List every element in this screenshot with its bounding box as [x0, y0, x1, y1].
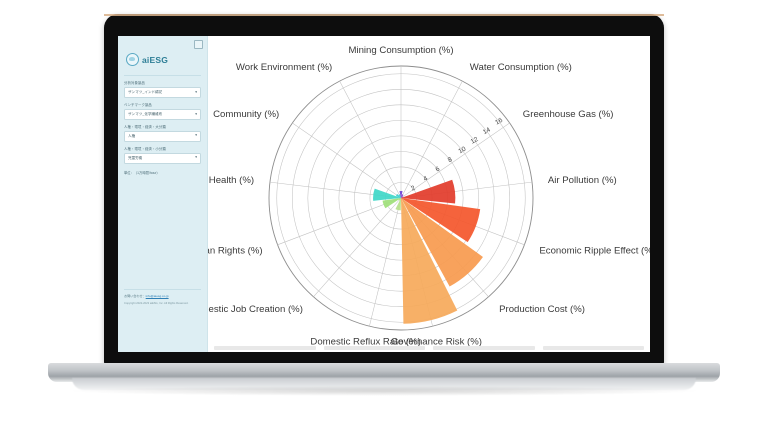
radial-tick-label: 14 — [482, 126, 492, 136]
category-label: Greenhouse Gas (%) — [523, 109, 614, 120]
content-footer-bars — [208, 346, 650, 350]
contact-email-link[interactable]: info@aiesg.co.jp — [146, 294, 169, 298]
select-value: 児童労働 — [128, 156, 142, 161]
radial-tick-label: 12 — [470, 136, 480, 146]
field-major-category: 人権・環境・経済・大分類 人権 ▾ — [118, 120, 207, 142]
logo-mark-icon — [126, 53, 139, 66]
chart-radial-ticks: 246810121416 — [410, 117, 504, 193]
chart-petals — [373, 180, 483, 324]
category-label: Safety and Health (%) — [208, 175, 254, 186]
unit-note: 単位：（1万時間/hour） — [118, 164, 207, 175]
category-label: Work Environment (%) — [236, 62, 332, 73]
polar-rose-chart: 246810121416 Mining Consumption (%)Water… — [208, 36, 650, 352]
radial-tick-label: 10 — [457, 145, 467, 155]
sidebar-footer: お問い合わせ：info@aiesg.co.jp Copyright 2022-2… — [124, 289, 201, 306]
field-target-product: 分析対象製品 ザンマツ_インド綿花 ▾ — [118, 76, 207, 98]
close-icon[interactable] — [194, 40, 203, 49]
chevron-down-icon: ▾ — [195, 156, 197, 160]
logo-text: aiESG — [142, 55, 168, 65]
footer-bar — [214, 346, 316, 350]
select-minor-category[interactable]: 児童労働 ▾ — [124, 153, 201, 164]
select-target-product[interactable]: ザンマツ_インド綿花 ▾ — [124, 87, 201, 98]
footer-bar — [543, 346, 645, 350]
application-window: aiESG 分析対象製品 ザンマツ_インド綿花 ▾ ベンチマーク製品 ザンマツ_… — [118, 36, 650, 352]
contact-label: お問い合わせ： — [124, 294, 146, 298]
lid-top-accent — [104, 14, 664, 16]
chevron-down-icon: ▾ — [195, 91, 197, 95]
category-label: Economic Ripple Effect (%) — [539, 246, 650, 257]
category-label: Community (%) — [213, 109, 279, 120]
category-label: Human Rights (%) — [208, 246, 263, 257]
rose-chart-svg: 246810121416 Mining Consumption (%)Water… — [208, 36, 650, 352]
laptop-shadow — [64, 386, 704, 396]
field-minor-category: 人権・環境・経済・小分類 児童労働 ▾ — [118, 142, 207, 164]
category-label: Mining Consumption (%) — [348, 45, 453, 56]
select-value: ザンマツ_インド綿花 — [128, 90, 162, 95]
category-label: Air Pollution (%) — [548, 175, 617, 186]
field-label: 人権・環境・経済・大分類 — [124, 125, 201, 129]
select-benchmark-product[interactable]: ザンマツ_化学繊維布 ▾ — [124, 109, 201, 120]
screenshot-stage: aiESG 分析対象製品 ザンマツ_インド綿花 ▾ ベンチマーク製品 ザンマツ_… — [0, 0, 768, 431]
sidebar: aiESG 分析対象製品 ザンマツ_インド綿花 ▾ ベンチマーク製品 ザンマツ_… — [118, 36, 208, 352]
radial-tick-label: 6 — [435, 165, 442, 173]
field-label: ベンチマーク製品 — [124, 103, 201, 107]
category-label: Production Cost (%) — [499, 304, 585, 315]
field-benchmark-product: ベンチマーク製品 ザンマツ_化学繊維布 ▾ — [118, 98, 207, 120]
footer-bar — [433, 346, 535, 350]
field-label: 人権・環境・経済・小分類 — [124, 147, 201, 151]
chevron-down-icon: ▾ — [195, 113, 197, 117]
laptop-screen: aiESG 分析対象製品 ザンマツ_インド綿花 ▾ ベンチマーク製品 ザンマツ_… — [118, 36, 650, 352]
field-label: 分析対象製品 — [124, 81, 201, 85]
sidebar-divider-bottom — [124, 289, 201, 290]
category-label: Domestic Job Creation (%) — [208, 304, 303, 315]
main-content: 246810121416 Mining Consumption (%)Water… — [208, 36, 650, 352]
select-major-category[interactable]: 人権 ▾ — [124, 131, 201, 142]
select-value: 人権 — [128, 134, 135, 139]
category-label: Water Consumption (%) — [470, 62, 572, 73]
radial-tick-label: 8 — [447, 156, 454, 164]
footer-bar — [324, 346, 426, 350]
chevron-down-icon: ▾ — [195, 134, 197, 138]
copyright-text: Copyright 2022-2023 aiESG, Inc. All Righ… — [124, 302, 201, 306]
select-value: ザンマツ_化学繊維布 — [128, 112, 162, 117]
radial-tick-label: 16 — [494, 117, 504, 127]
contact-line: お問い合わせ：info@aiesg.co.jp — [124, 294, 201, 298]
